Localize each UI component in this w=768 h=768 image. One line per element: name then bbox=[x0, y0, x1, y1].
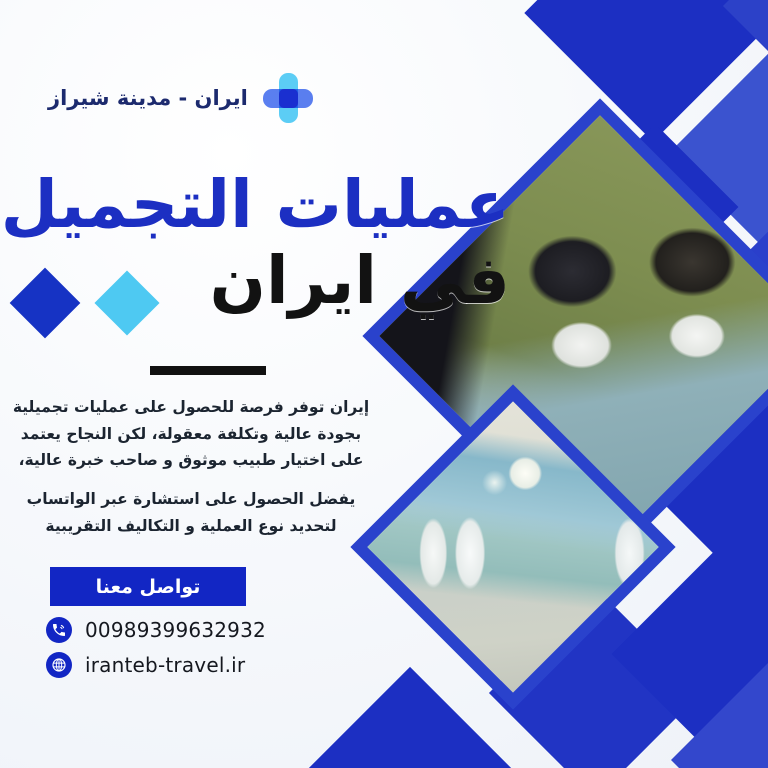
phone-number: 00989399632932 bbox=[85, 618, 266, 642]
page-title: عمليات التجميل في ايران bbox=[1, 172, 510, 314]
body-paragraph-2: يفضل الحصول على استشارة عبر الواتساب لتح… bbox=[8, 486, 374, 539]
contact-website-row[interactable]: iranteb-travel.ir bbox=[46, 652, 245, 678]
globe-icon[interactable] bbox=[46, 652, 72, 678]
title-underline-rule bbox=[150, 366, 266, 375]
phone-icon[interactable] bbox=[46, 617, 72, 643]
title-line-secondary: في ايران bbox=[1, 248, 510, 314]
body-paragraph-1: إيران توفر فرصة للحصول على عمليات تجميلي… bbox=[8, 394, 374, 474]
cross-center-core bbox=[279, 89, 298, 108]
promo-poster: ايران - مدينة شيراز عمليات التجميل في اي… bbox=[0, 0, 768, 768]
contact-phone-row[interactable]: 00989399632932 bbox=[46, 617, 266, 643]
medical-cross-icon bbox=[262, 72, 314, 124]
contact-us-button[interactable]: تواصل معنا bbox=[50, 567, 246, 606]
title-line-primary: عمليات التجميل bbox=[1, 172, 510, 238]
brand-logo: ايران - مدينة شيراز bbox=[48, 72, 314, 124]
website-url: iranteb-travel.ir bbox=[85, 653, 245, 677]
brand-tagline: ايران - مدينة شيراز bbox=[48, 86, 248, 110]
